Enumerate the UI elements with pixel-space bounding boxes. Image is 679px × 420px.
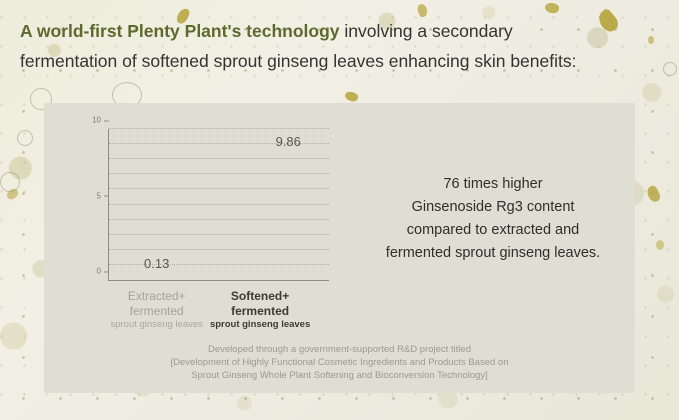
bubble-ring-2 [17, 130, 33, 146]
bar-chart: 0 5 10 0.13 Extracted+ fermented sprout … [62, 111, 347, 341]
gridline [109, 128, 329, 129]
chart-panel: 0 5 10 0.13 Extracted+ fermented sprout … [44, 103, 635, 393]
gridlines [109, 129, 329, 280]
leaf-fleck-3 [544, 2, 560, 15]
footer-line-3: Sprout Ginseng Whole Plant Softening and… [44, 369, 635, 382]
bubble-ring-3 [0, 172, 20, 192]
plot-area: 0 5 10 0.13 Extracted+ fermented sprout … [108, 129, 329, 281]
gridline [109, 204, 329, 205]
gridline [109, 219, 329, 220]
headline-emphasis: A world-first Plenty Plant's technology [20, 21, 340, 41]
gridline [109, 249, 329, 250]
y-tick-10: 10 [92, 116, 109, 125]
gridline [109, 234, 329, 235]
category-softened-line1: Softened+ [194, 289, 326, 304]
callout-line-2: Ginsenoside Rg3 content [364, 196, 622, 219]
page-title: A world-first Plenty Plant's technology … [20, 16, 660, 76]
category-label-softened: Softened+ fermented sprout ginseng leave… [194, 289, 326, 332]
gridline [109, 264, 329, 265]
gridline [109, 158, 329, 159]
callout-line-1: 76 times higher [364, 173, 622, 196]
bar-value-softened: 9.86 [276, 134, 301, 149]
leaf-fleck-9 [656, 240, 664, 250]
category-softened-line2: fermented [194, 304, 326, 319]
gridline [109, 188, 329, 189]
callout-line-3: compared to extracted and [364, 219, 622, 242]
footer-line-2: [Development of Highly Functional Cosmet… [44, 356, 635, 369]
headline-line-1-rest: involving a secondary [340, 21, 513, 41]
bubble-ring-5 [663, 62, 677, 76]
callout-line-4: fermented sprout ginseng leaves. [364, 242, 622, 265]
gridline [109, 173, 329, 174]
headline-line-1: A world-first Plenty Plant's technology … [20, 16, 660, 46]
footer-note: Developed through a government-supported… [44, 343, 635, 382]
headline-line-2: fermentation of softened sprout ginseng … [20, 46, 660, 76]
footer-line-1: Developed through a government-supported… [44, 343, 635, 356]
callout-text: 76 times higher Ginsenoside Rg3 content … [364, 173, 622, 265]
leaf-fleck-6 [344, 90, 359, 103]
y-tick-5: 5 [97, 191, 109, 200]
category-softened-sub: sprout ginseng leaves [194, 318, 326, 332]
bar-value-extracted: 0.13 [144, 256, 169, 271]
y-tick-0: 0 [97, 267, 109, 276]
leaf-fleck-8 [645, 184, 662, 203]
leaf-fleck-7 [5, 187, 20, 202]
